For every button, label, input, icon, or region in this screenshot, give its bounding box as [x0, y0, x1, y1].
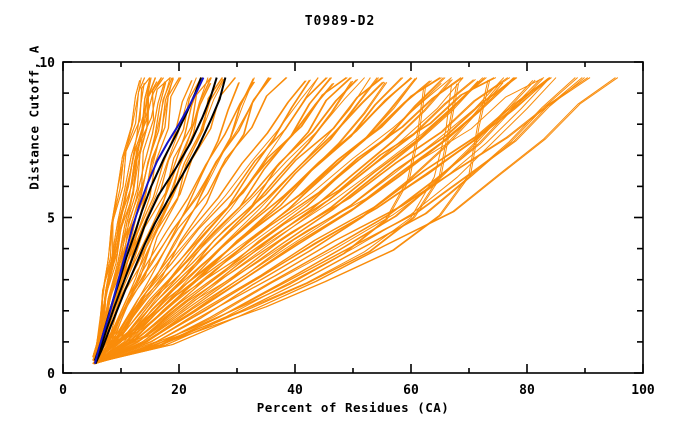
x-tick-label: 20: [171, 383, 187, 398]
y-tick-label: 0: [47, 367, 55, 382]
chart-page: T0989-D2 Distance Cutoff, A Percent of R…: [0, 0, 680, 440]
x-tick-label: 100: [631, 383, 655, 398]
y-tick-label: 5: [47, 212, 55, 227]
x-tick-label: 40: [287, 383, 303, 398]
plot-area: 0204060801000510: [0, 0, 680, 440]
x-tick-label: 0: [59, 383, 67, 398]
x-tick-label: 60: [403, 383, 419, 398]
x-tick-label: 80: [519, 383, 535, 398]
y-tick-label: 10: [39, 56, 55, 71]
series-layer: [93, 78, 618, 364]
